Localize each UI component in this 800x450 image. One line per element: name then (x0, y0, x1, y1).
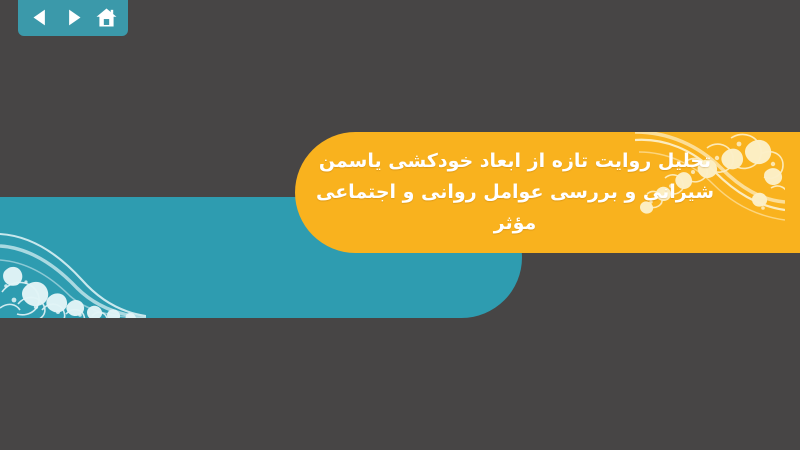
home-button[interactable] (93, 4, 119, 30)
orange-banner (295, 132, 800, 253)
triangle-left-icon (30, 7, 51, 28)
slide-canvas: تحلیل روایت تازه از ابعاد خودکشی یاسمن ش… (0, 0, 800, 450)
arabesque-ornament (635, 132, 785, 253)
triangle-right-icon (63, 7, 84, 28)
navigation-toolbar (18, 0, 128, 36)
home-icon (95, 6, 118, 29)
arabesque-ornament (0, 200, 146, 318)
previous-slide-button[interactable] (27, 4, 53, 30)
next-slide-button[interactable] (60, 4, 86, 30)
